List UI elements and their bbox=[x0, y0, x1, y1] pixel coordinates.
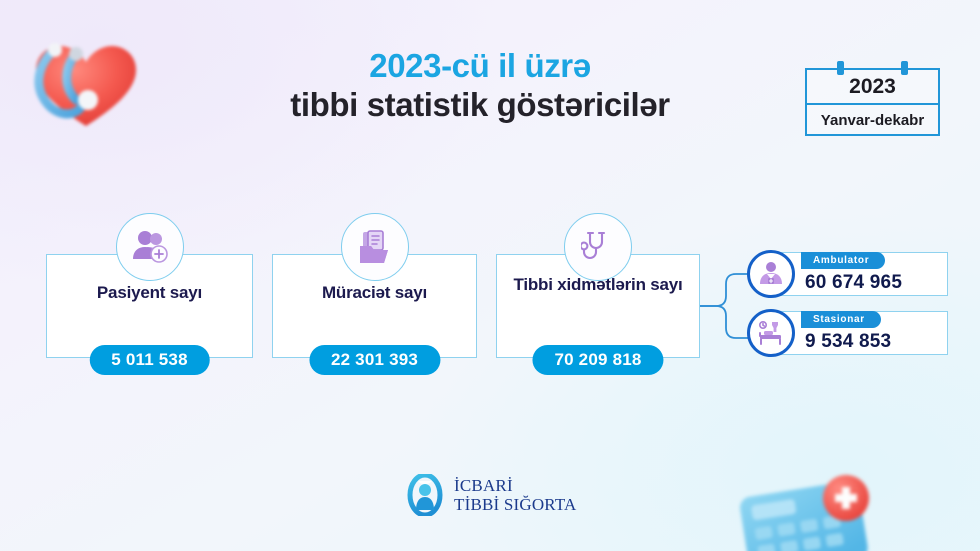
stat-card-value: 22 301 393 bbox=[309, 345, 440, 375]
sub-stat-value: 9 534 853 bbox=[805, 329, 891, 354]
heart-stethoscope-illustration bbox=[8, 22, 158, 147]
calendar-ring-right bbox=[901, 61, 908, 75]
stat-card-label: Pasiyent sayı bbox=[57, 283, 242, 304]
stat-card-label: Müraciət sayı bbox=[283, 283, 466, 304]
calendar-ring-left bbox=[837, 61, 844, 75]
doctor-icon bbox=[747, 250, 795, 298]
sub-stat-stasionar: Stasionar 9 534 853 bbox=[768, 311, 948, 355]
logo-line-2: TİBBİ SIĞORTA bbox=[454, 495, 577, 514]
title-line-subject: tibbi statistik göstəricilər bbox=[180, 85, 780, 125]
calendar-period: Yanvar-dekabr bbox=[807, 105, 938, 136]
icbari-tibbi-sigorta-logo bbox=[405, 474, 445, 516]
stat-card-patients: Pasiyent sayı 5 011 538 bbox=[46, 254, 253, 358]
stat-card-label: Tibbi xidmətlərin sayı bbox=[507, 275, 689, 296]
page-title: 2023-cü il üzrə tibbi statistik göstəric… bbox=[180, 48, 780, 125]
infographic-canvas: 2023-cü il üzrə tibbi statistik göstəric… bbox=[0, 0, 980, 551]
stat-card-value: 5 011 538 bbox=[89, 345, 210, 375]
logo-line-1: İCBARİ bbox=[454, 476, 577, 495]
sub-stat-ambulator: Ambulator 60 674 965 bbox=[768, 252, 948, 296]
stethoscope-icon bbox=[564, 213, 632, 281]
stat-card-value: 70 209 818 bbox=[532, 345, 663, 375]
folder-documents-icon bbox=[341, 213, 409, 281]
footer-logo: İCBARİ TİBBİ SIĞORTA bbox=[405, 474, 577, 516]
sub-stat-value: 60 674 965 bbox=[805, 270, 902, 295]
calendar-icon: 2023 Yanvar-dekabr bbox=[805, 68, 940, 136]
patients-add-icon bbox=[116, 213, 184, 281]
stat-card-applications: Müraciət sayı 22 301 393 bbox=[272, 254, 477, 358]
hospital-bed-icon bbox=[747, 309, 795, 357]
calculator-medical-cross-illustration bbox=[726, 466, 896, 551]
sub-stat-label: Ambulator bbox=[801, 252, 885, 269]
calendar-year: 2023 bbox=[807, 70, 938, 105]
title-line-year: 2023-cü il üzrə bbox=[180, 48, 780, 85]
logo-text: İCBARİ TİBBİ SIĞORTA bbox=[454, 476, 577, 514]
stat-card-medical-services: Tibbi xidmətlərin sayı 70 209 818 bbox=[496, 254, 700, 358]
sub-stat-label: Stasionar bbox=[801, 311, 881, 328]
